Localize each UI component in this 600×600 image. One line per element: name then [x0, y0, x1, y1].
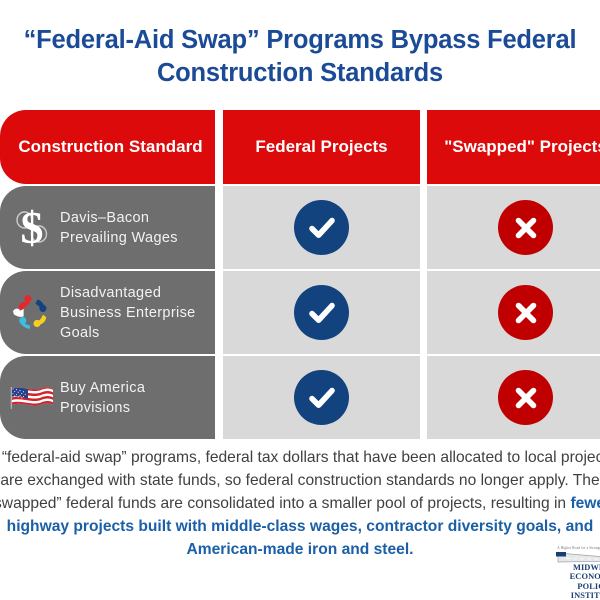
logo-name-line-1: MIDWEST ECONOMIC — [556, 563, 600, 582]
column-header-swapped-projects: "Swapped" Projects — [427, 110, 600, 184]
standard-label-box: Buy America Provisions — [0, 356, 215, 439]
row-label-cell: Buy America Provisions — [0, 356, 215, 439]
status-badge-no — [498, 370, 553, 425]
status-badge-no — [498, 200, 553, 255]
federal-projects-cell — [223, 186, 420, 269]
status-badge-yes — [294, 200, 349, 255]
table-row: $ Davis–Bacon Prevailing Wages — [0, 186, 600, 269]
table-row: Buy America Provisions — [0, 356, 600, 439]
standard-label-text: Davis–Bacon Prevailing Wages — [56, 208, 215, 248]
row-label-cell: $ Davis–Bacon Prevailing Wages — [0, 186, 215, 269]
check-icon — [305, 381, 339, 415]
column-header-construction-standard: Construction Standard — [0, 110, 215, 184]
comparison-table: Construction Standard Federal Projects "… — [0, 110, 600, 441]
check-icon — [305, 211, 339, 245]
row-label-cell: Disadvantaged Business Enterprise Goals — [0, 271, 215, 354]
column-header-federal-projects: Federal Projects — [223, 110, 420, 184]
cross-icon — [509, 381, 543, 415]
cross-icon — [509, 296, 543, 330]
status-badge-yes — [294, 370, 349, 425]
swapped-projects-cell — [427, 356, 600, 439]
logo-name-line-2: POLICY INSTITUTE — [556, 582, 600, 600]
federal-projects-cell — [223, 271, 420, 354]
diversity-people-circle-icon — [8, 285, 56, 341]
table-row: Disadvantaged Business Enterprise Goals — [0, 271, 600, 354]
standard-label-text: Buy America Provisions — [56, 378, 215, 418]
federal-projects-cell — [223, 356, 420, 439]
paragraph-plain-text: In “federal-aid swap” programs, federal … — [0, 449, 600, 512]
status-badge-yes — [294, 285, 349, 340]
page-title: “Federal-Aid Swap” Programs Bypass Feder… — [0, 24, 600, 89]
check-icon — [305, 296, 339, 330]
standard-label-box: Disadvantaged Business Enterprise Goals — [0, 271, 215, 354]
explanatory-paragraph: In “federal-aid swap” programs, federal … — [0, 447, 600, 562]
swapped-projects-cell — [427, 186, 600, 269]
cross-icon — [509, 211, 543, 245]
logo-road-mark — [556, 550, 600, 562]
table-header-row: Construction Standard Federal Projects "… — [0, 110, 600, 184]
infographic-root: “Federal-Aid Swap” Programs Bypass Feder… — [0, 0, 600, 600]
us-flag-icon — [8, 370, 56, 426]
swapped-projects-cell — [427, 271, 600, 354]
organization-logo: A Higher Road for a Stronger Economy MID… — [556, 546, 600, 600]
standard-label-text: Disadvantaged Business Enterprise Goals — [56, 283, 215, 343]
dollar-sign-icon: $ — [8, 200, 56, 256]
standard-label-box: $ Davis–Bacon Prevailing Wages — [0, 186, 215, 269]
status-badge-no — [498, 285, 553, 340]
